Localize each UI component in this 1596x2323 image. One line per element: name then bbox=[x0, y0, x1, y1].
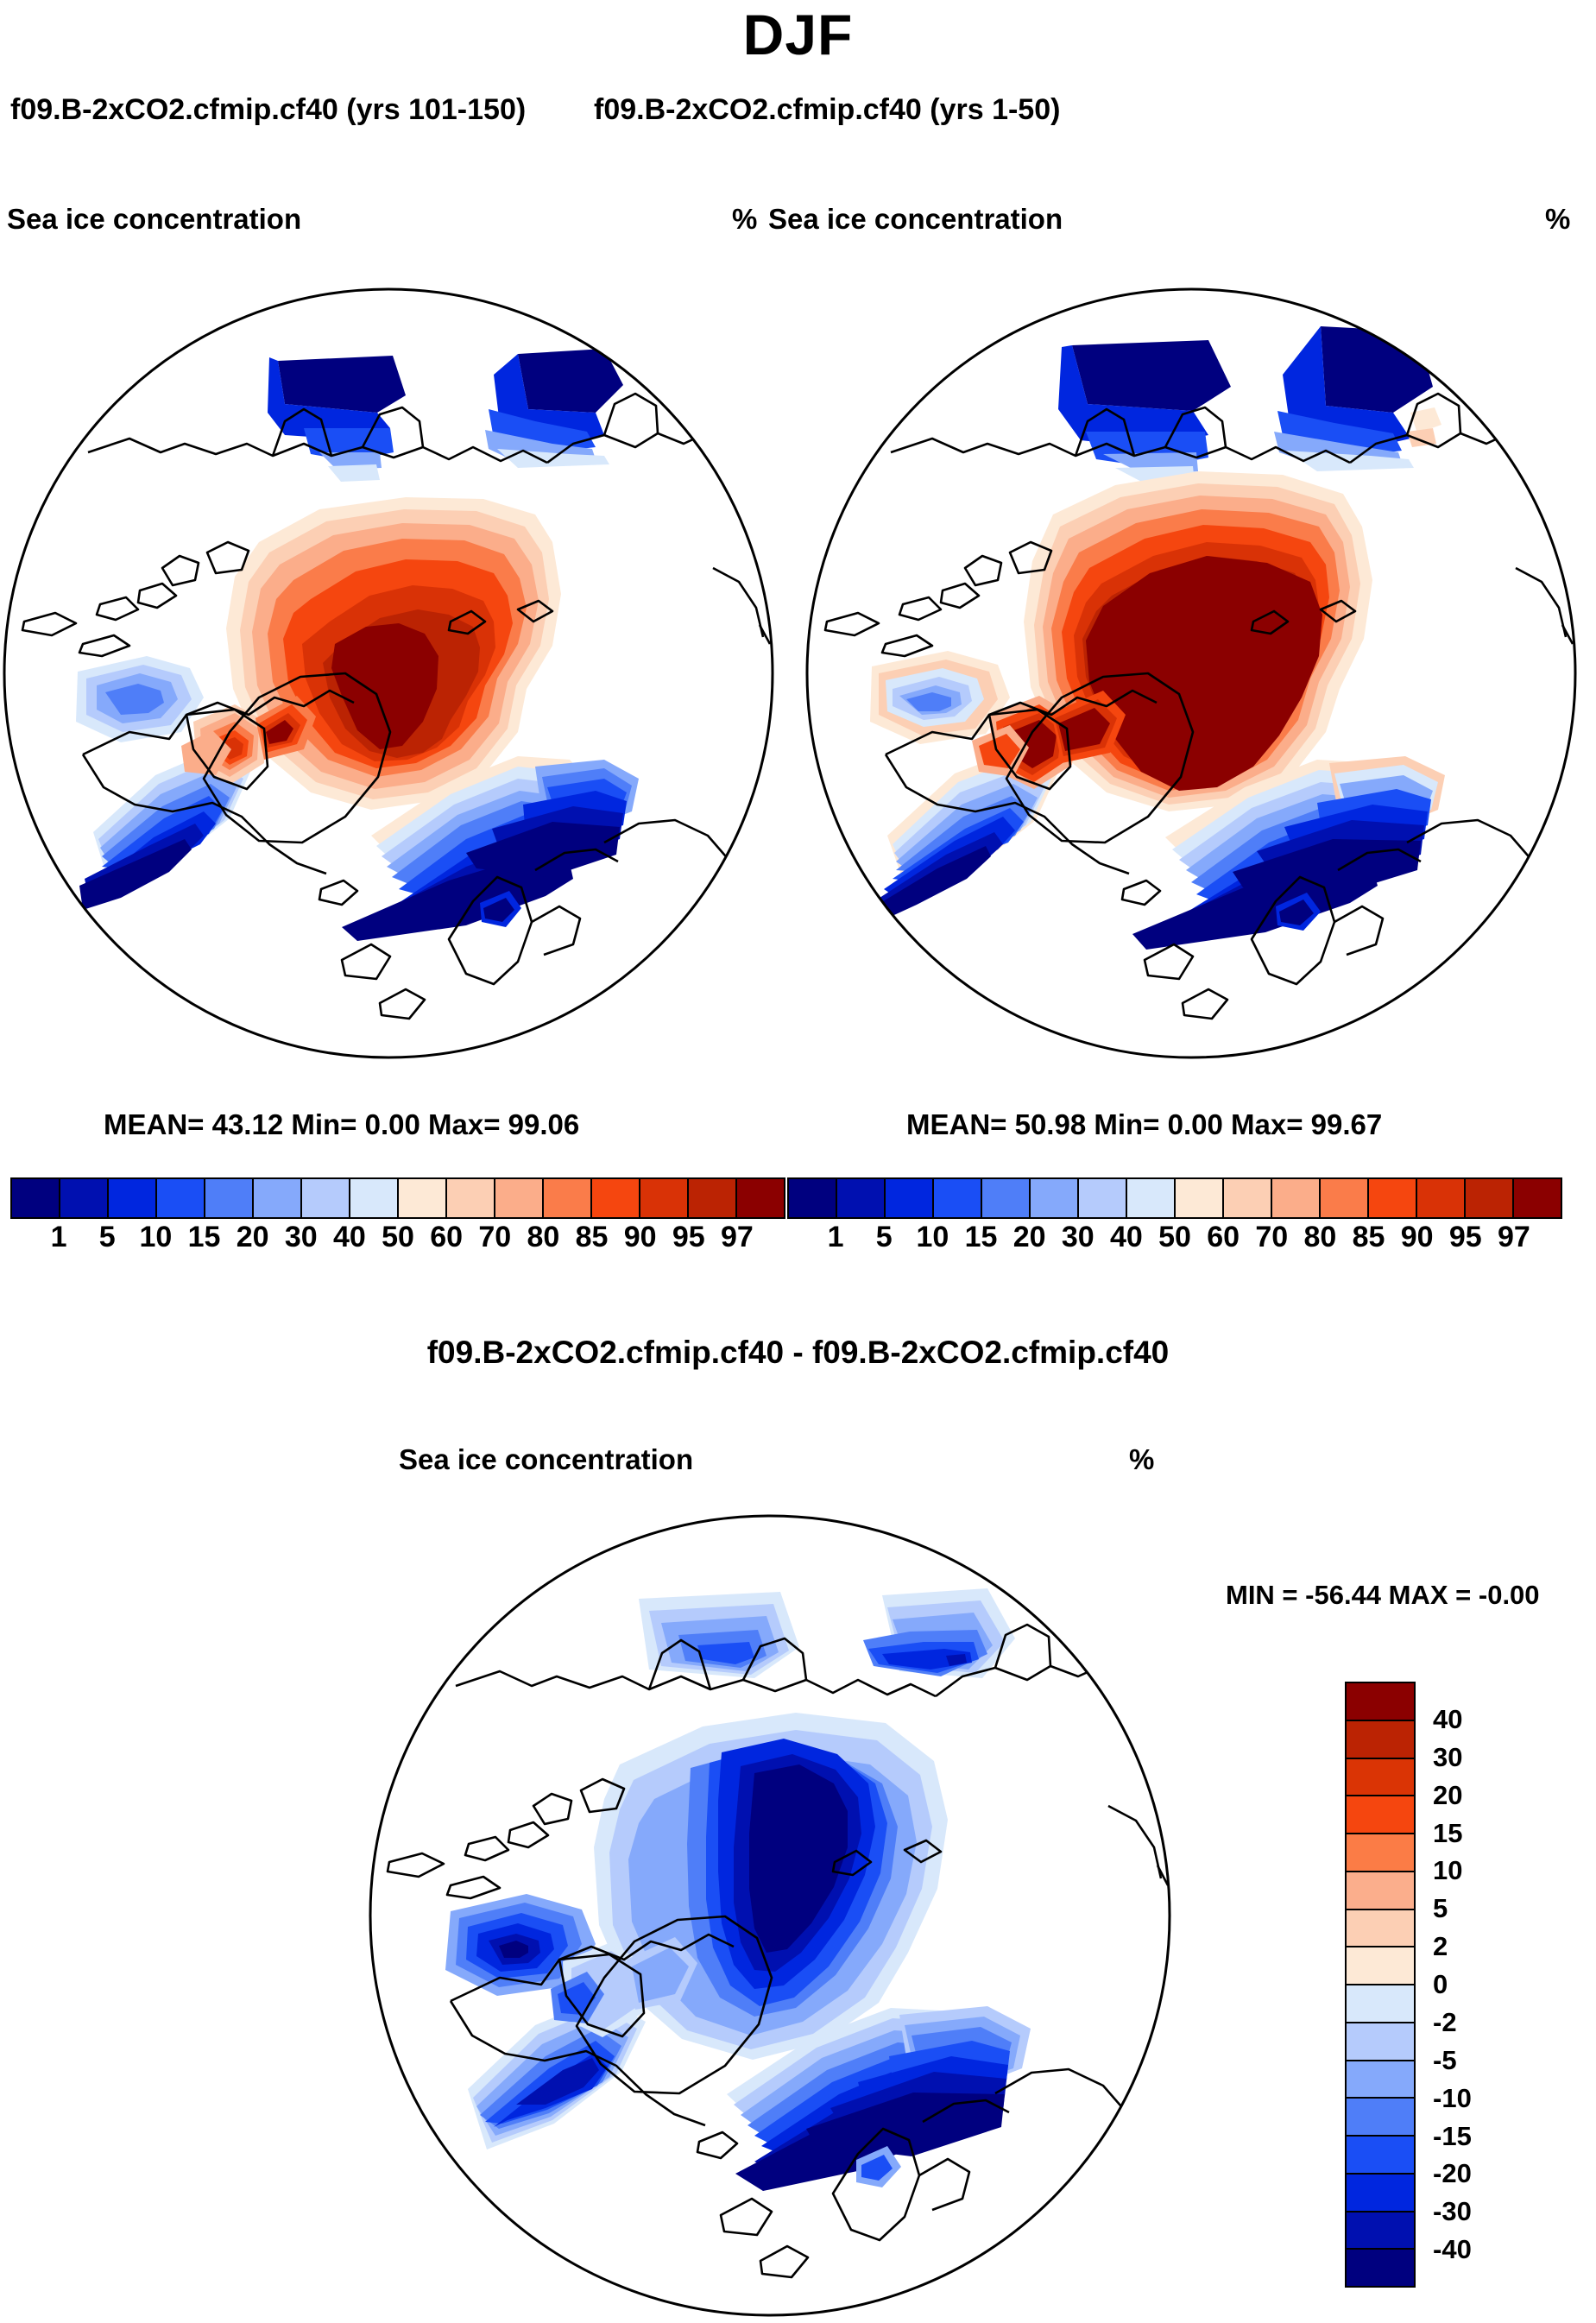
right-field-label: Sea ice concentration bbox=[768, 203, 1063, 236]
diff-colorbar-swatch-11 bbox=[1347, 2099, 1414, 2137]
diff-colorbar-tick-3: 15 bbox=[1433, 1818, 1462, 1849]
diff-map-svg bbox=[364, 1509, 1176, 2322]
left-colorbar-swatch-13 bbox=[640, 1179, 689, 1217]
right-colorbar-swatch-7 bbox=[1127, 1179, 1176, 1217]
diff-minmax-label: MIN = -56.44 MAX = -0.00 bbox=[1226, 1580, 1540, 1611]
right-colorbar-tick-13: 95 bbox=[1449, 1219, 1482, 1255]
left-colorbar-swatch-1 bbox=[60, 1179, 109, 1217]
right-colorbar-tick-7: 50 bbox=[1158, 1219, 1191, 1255]
right-map-panel bbox=[803, 283, 1580, 1064]
left-colorbar-tick-10: 80 bbox=[527, 1219, 559, 1255]
diff-colorbar-swatch-7 bbox=[1347, 1947, 1414, 1985]
left-colorbar-tick-3: 15 bbox=[188, 1219, 221, 1255]
left-map-svg bbox=[0, 283, 777, 1064]
diff-unit-label: % bbox=[1129, 1443, 1154, 1476]
left-colorbar-ticks: 1510152030405060708085909597 bbox=[10, 1219, 785, 1259]
left-colorbar-swatch-3 bbox=[157, 1179, 205, 1217]
left-colorbar-tick-1: 5 bbox=[99, 1219, 116, 1255]
right-colorbar-tick-14: 97 bbox=[1498, 1219, 1530, 1255]
right-colorbar-swatch-5 bbox=[1031, 1179, 1079, 1217]
left-colorbar-tick-12: 90 bbox=[624, 1219, 657, 1255]
left-unit-label: % bbox=[732, 203, 757, 236]
left-colorbar-swatch-6 bbox=[302, 1179, 350, 1217]
right-colorbar-swatch-12 bbox=[1369, 1179, 1417, 1217]
right-colorbar-tick-10: 80 bbox=[1303, 1219, 1336, 1255]
left-stats: MEAN= 43.12 Min= 0.00 Max= 99.06 bbox=[104, 1108, 579, 1141]
right-colorbar-tick-2: 10 bbox=[916, 1219, 949, 1255]
diff-colorbar-tick-13: -30 bbox=[1433, 2196, 1472, 2227]
left-colorbar-swatch-14 bbox=[689, 1179, 737, 1217]
left-colorbar-swatch-15 bbox=[737, 1179, 784, 1217]
left-colorbar-cells bbox=[10, 1177, 785, 1219]
right-colorbar-swatch-10 bbox=[1272, 1179, 1321, 1217]
diff-colorbar-tick-5: 5 bbox=[1433, 1893, 1448, 1924]
right-colorbar-swatch-15 bbox=[1514, 1179, 1561, 1217]
diff-colorbar-swatch-8 bbox=[1347, 1985, 1414, 2023]
diff-panel-title: f09.B-2xCO2.cfmip.cf40 - f09.B-2xCO2.cfm… bbox=[0, 1335, 1596, 1371]
diff-colorbar-swatch-10 bbox=[1347, 2061, 1414, 2099]
diff-colorbar-tick-9: -5 bbox=[1433, 2045, 1457, 2076]
diff-colorbar-swatch-3 bbox=[1347, 1796, 1414, 1834]
left-colorbar-tick-14: 97 bbox=[721, 1219, 754, 1255]
right-case-subtitle: f09.B-2xCO2.cfmip.cf40 (yrs 1-50) bbox=[594, 93, 1060, 127]
left-colorbar-swatch-4 bbox=[205, 1179, 254, 1217]
diff-colorbar-swatch-6 bbox=[1347, 1910, 1414, 1948]
diff-colorbar-tick-10: -10 bbox=[1433, 2083, 1472, 2114]
right-colorbar-swatch-3 bbox=[934, 1179, 982, 1217]
right-stats: MEAN= 50.98 Min= 0.00 Max= 99.67 bbox=[906, 1108, 1382, 1141]
diff-colorbar-swatch-15 bbox=[1347, 2250, 1414, 2286]
left-colorbar-swatch-12 bbox=[592, 1179, 640, 1217]
left-colorbar-swatch-8 bbox=[399, 1179, 447, 1217]
left-colorbar-swatch-0 bbox=[12, 1179, 60, 1217]
right-colorbar-tick-11: 85 bbox=[1353, 1219, 1385, 1255]
right-colorbar-swatch-0 bbox=[789, 1179, 837, 1217]
right-colorbar-tick-5: 30 bbox=[1062, 1219, 1094, 1255]
diff-colorbar-tick-0: 40 bbox=[1433, 1704, 1462, 1735]
left-map-panel bbox=[0, 283, 777, 1064]
left-colorbar-tick-7: 50 bbox=[382, 1219, 414, 1255]
left-colorbar-swatch-9 bbox=[447, 1179, 495, 1217]
page-title: DJF bbox=[0, 2, 1596, 67]
right-colorbar-swatch-13 bbox=[1417, 1179, 1466, 1217]
left-colorbar-tick-2: 10 bbox=[139, 1219, 172, 1255]
diff-colorbar-ticks: 4030201510520-2-5-10-15-20-30-40 bbox=[1433, 1682, 1554, 2288]
left-colorbar-swatch-11 bbox=[544, 1179, 592, 1217]
diff-colorbar-tick-7: 0 bbox=[1433, 1969, 1448, 2000]
left-field-label: Sea ice concentration bbox=[7, 203, 301, 236]
right-map-svg bbox=[803, 283, 1580, 1064]
diff-colorbar-cells[interactable] bbox=[1345, 1682, 1416, 2288]
left-colorbar-swatch-10 bbox=[495, 1179, 544, 1217]
diff-colorbar-swatch-0 bbox=[1347, 1683, 1414, 1721]
diff-colorbar-tick-11: -15 bbox=[1433, 2121, 1472, 2152]
diff-map-panel bbox=[364, 1509, 1176, 2322]
right-colorbar-tick-4: 20 bbox=[1013, 1219, 1046, 1255]
right-colorbar-tick-1: 5 bbox=[876, 1219, 893, 1255]
left-colorbar-swatch-2 bbox=[109, 1179, 157, 1217]
left-colorbar[interactable]: 1510152030405060708085909597 bbox=[10, 1177, 785, 1259]
left-colorbar-tick-0: 1 bbox=[51, 1219, 67, 1255]
diff-colorbar-tick-6: 2 bbox=[1433, 1931, 1448, 1962]
left-colorbar-tick-4: 20 bbox=[237, 1219, 269, 1255]
diff-colorbar-swatch-9 bbox=[1347, 2023, 1414, 2061]
left-colorbar-tick-8: 60 bbox=[430, 1219, 463, 1255]
right-colorbar-cells bbox=[787, 1177, 1562, 1219]
left-colorbar-tick-13: 95 bbox=[672, 1219, 705, 1255]
left-colorbar-tick-6: 40 bbox=[333, 1219, 366, 1255]
right-colorbar-swatch-11 bbox=[1321, 1179, 1369, 1217]
left-case-subtitle: f09.B-2xCO2.cfmip.cf40 (yrs 101-150) bbox=[10, 93, 526, 127]
right-colorbar-tick-6: 40 bbox=[1110, 1219, 1143, 1255]
right-colorbar-swatch-8 bbox=[1176, 1179, 1224, 1217]
diff-colorbar-swatch-1 bbox=[1347, 1721, 1414, 1759]
diff-colorbar-tick-8: -2 bbox=[1433, 2007, 1457, 2038]
left-colorbar-tick-11: 85 bbox=[576, 1219, 609, 1255]
diff-colorbar-swatch-13 bbox=[1347, 2175, 1414, 2213]
left-colorbar-tick-5: 30 bbox=[285, 1219, 318, 1255]
diff-colorbar-tick-1: 30 bbox=[1433, 1742, 1462, 1773]
diff-colorbar-tick-4: 10 bbox=[1433, 1855, 1462, 1886]
left-colorbar-swatch-7 bbox=[350, 1179, 399, 1217]
diff-colorbar-tick-14: -40 bbox=[1433, 2234, 1472, 2265]
right-colorbar-swatch-4 bbox=[982, 1179, 1031, 1217]
left-colorbar-swatch-5 bbox=[254, 1179, 302, 1217]
right-colorbar-swatch-6 bbox=[1079, 1179, 1127, 1217]
left-colorbar-tick-9: 70 bbox=[478, 1219, 511, 1255]
right-colorbar-tick-8: 60 bbox=[1207, 1219, 1240, 1255]
right-colorbar-swatch-14 bbox=[1466, 1179, 1514, 1217]
diff-colorbar-swatch-4 bbox=[1347, 1834, 1414, 1872]
right-colorbar-swatch-2 bbox=[886, 1179, 934, 1217]
right-colorbar-tick-0: 1 bbox=[828, 1219, 844, 1255]
diff-field-label: Sea ice concentration bbox=[399, 1443, 693, 1476]
right-unit-label: % bbox=[1545, 203, 1570, 236]
diff-colorbar-tick-2: 20 bbox=[1433, 1780, 1462, 1811]
diff-colorbar-swatch-2 bbox=[1347, 1759, 1414, 1797]
diff-colorbar-swatch-12 bbox=[1347, 2137, 1414, 2175]
right-colorbar-tick-9: 70 bbox=[1255, 1219, 1288, 1255]
diff-colorbar-swatch-14 bbox=[1347, 2213, 1414, 2250]
right-colorbar-ticks: 1510152030405060708085909597 bbox=[787, 1219, 1562, 1259]
right-colorbar-tick-3: 15 bbox=[965, 1219, 998, 1255]
right-colorbar-tick-12: 90 bbox=[1401, 1219, 1434, 1255]
diff-colorbar-tick-12: -20 bbox=[1433, 2158, 1472, 2189]
right-colorbar-swatch-9 bbox=[1224, 1179, 1272, 1217]
diff-colorbar-swatch-5 bbox=[1347, 1872, 1414, 1910]
right-colorbar-swatch-1 bbox=[837, 1179, 886, 1217]
right-colorbar[interactable]: 1510152030405060708085909597 bbox=[787, 1177, 1562, 1259]
